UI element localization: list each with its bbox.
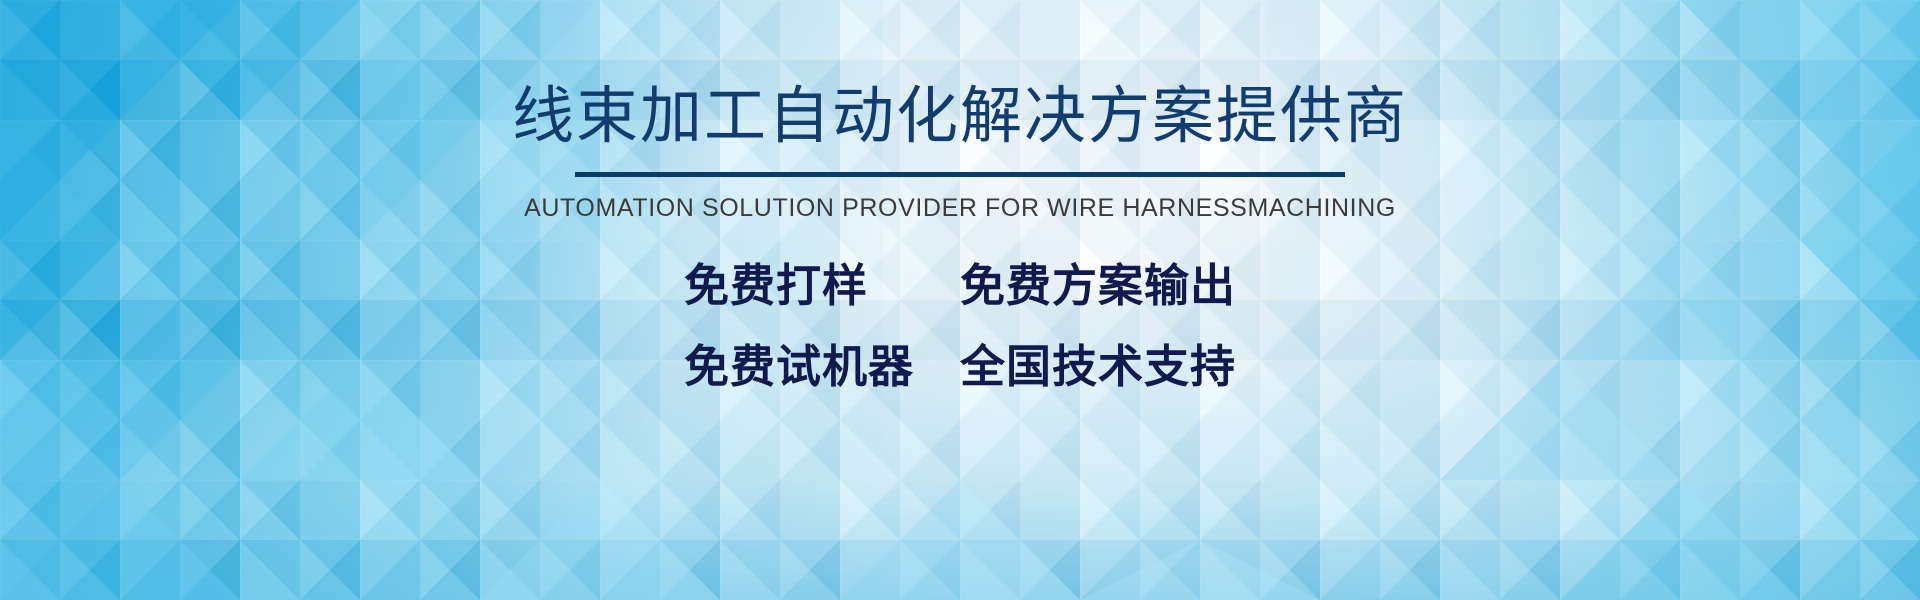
feature-line-2: 免费试机器 全国技术支持 <box>684 344 1236 389</box>
banner-content: 线束加工自动化解决方案提供商 AUTOMATION SOLUTION PROVI… <box>0 0 1920 600</box>
hero-banner: 线束加工自动化解决方案提供商 AUTOMATION SOLUTION PROVI… <box>0 0 1920 600</box>
title-divider <box>575 172 1345 177</box>
page-title: 线束加工自动化解决方案提供商 <box>512 86 1408 148</box>
feature-line-1: 免费打样 免费方案输出 <box>684 263 1236 308</box>
page-subtitle: AUTOMATION SOLUTION PROVIDER FOR WIRE HA… <box>524 194 1396 223</box>
